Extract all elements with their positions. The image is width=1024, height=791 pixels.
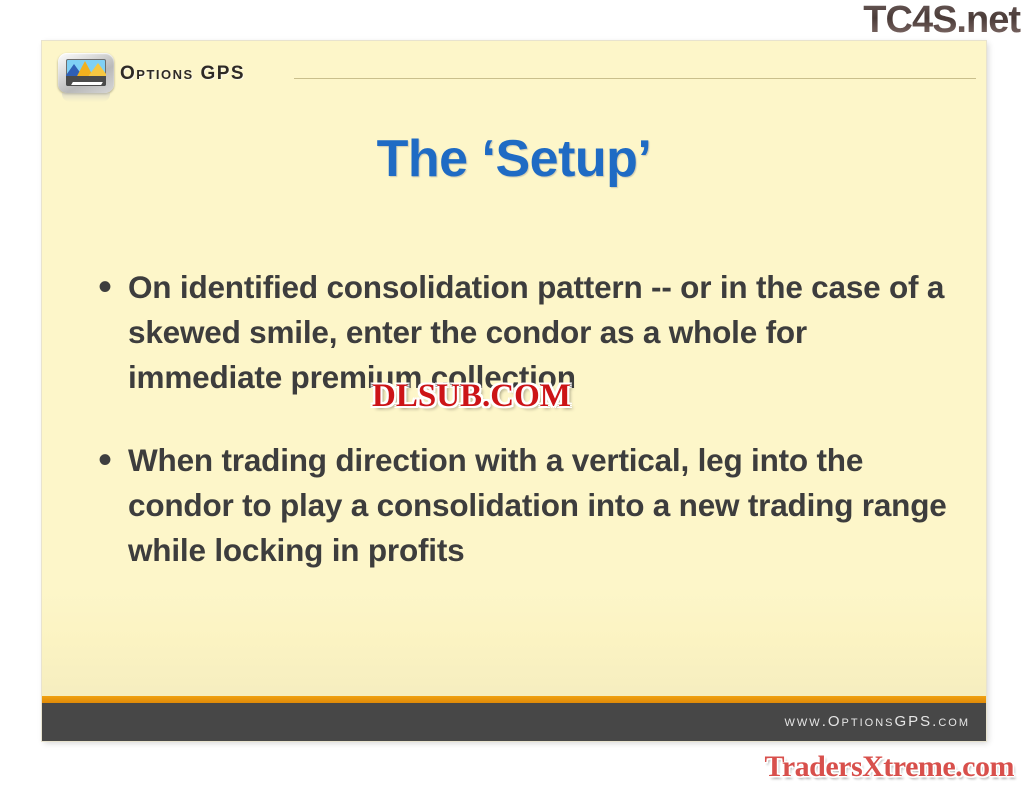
slide-footer: www.OptionsGPS.com	[42, 703, 986, 741]
device-screen-shape	[66, 59, 106, 86]
logo-reflection-shape	[62, 93, 110, 102]
bullet-marker-icon: •	[94, 438, 128, 482]
slide-header: Options GPS	[42, 41, 986, 103]
brand-wordmark: Options GPS	[120, 63, 245, 85]
slide-title: The ‘Setup’	[42, 129, 986, 189]
bullet-marker-icon: •	[94, 265, 128, 309]
slide-bullet-list: • On identified consolidation pattern --…	[94, 265, 954, 611]
bullet-item: • When trading direction with a vertical…	[94, 438, 954, 573]
tc4s-brand-label: TC4S.net	[820, 0, 1024, 40]
slide-screenshot: TC4S.net Options GPS The ‘Setup’ • On id…	[0, 0, 1024, 791]
tradersxtreme-brand-label: TradersXtreme.com	[700, 750, 1020, 784]
options-gps-device-icon	[58, 53, 114, 97]
header-divider-rule	[294, 78, 976, 79]
footer-website-url: www.OptionsGPS.com	[785, 713, 970, 730]
dlsub-watermark: DLSUB.COM	[372, 378, 571, 415]
footer-accent-bar	[42, 696, 986, 703]
bullet-text: When trading direction with a vertical, …	[128, 438, 954, 573]
road-shape	[66, 76, 106, 86]
